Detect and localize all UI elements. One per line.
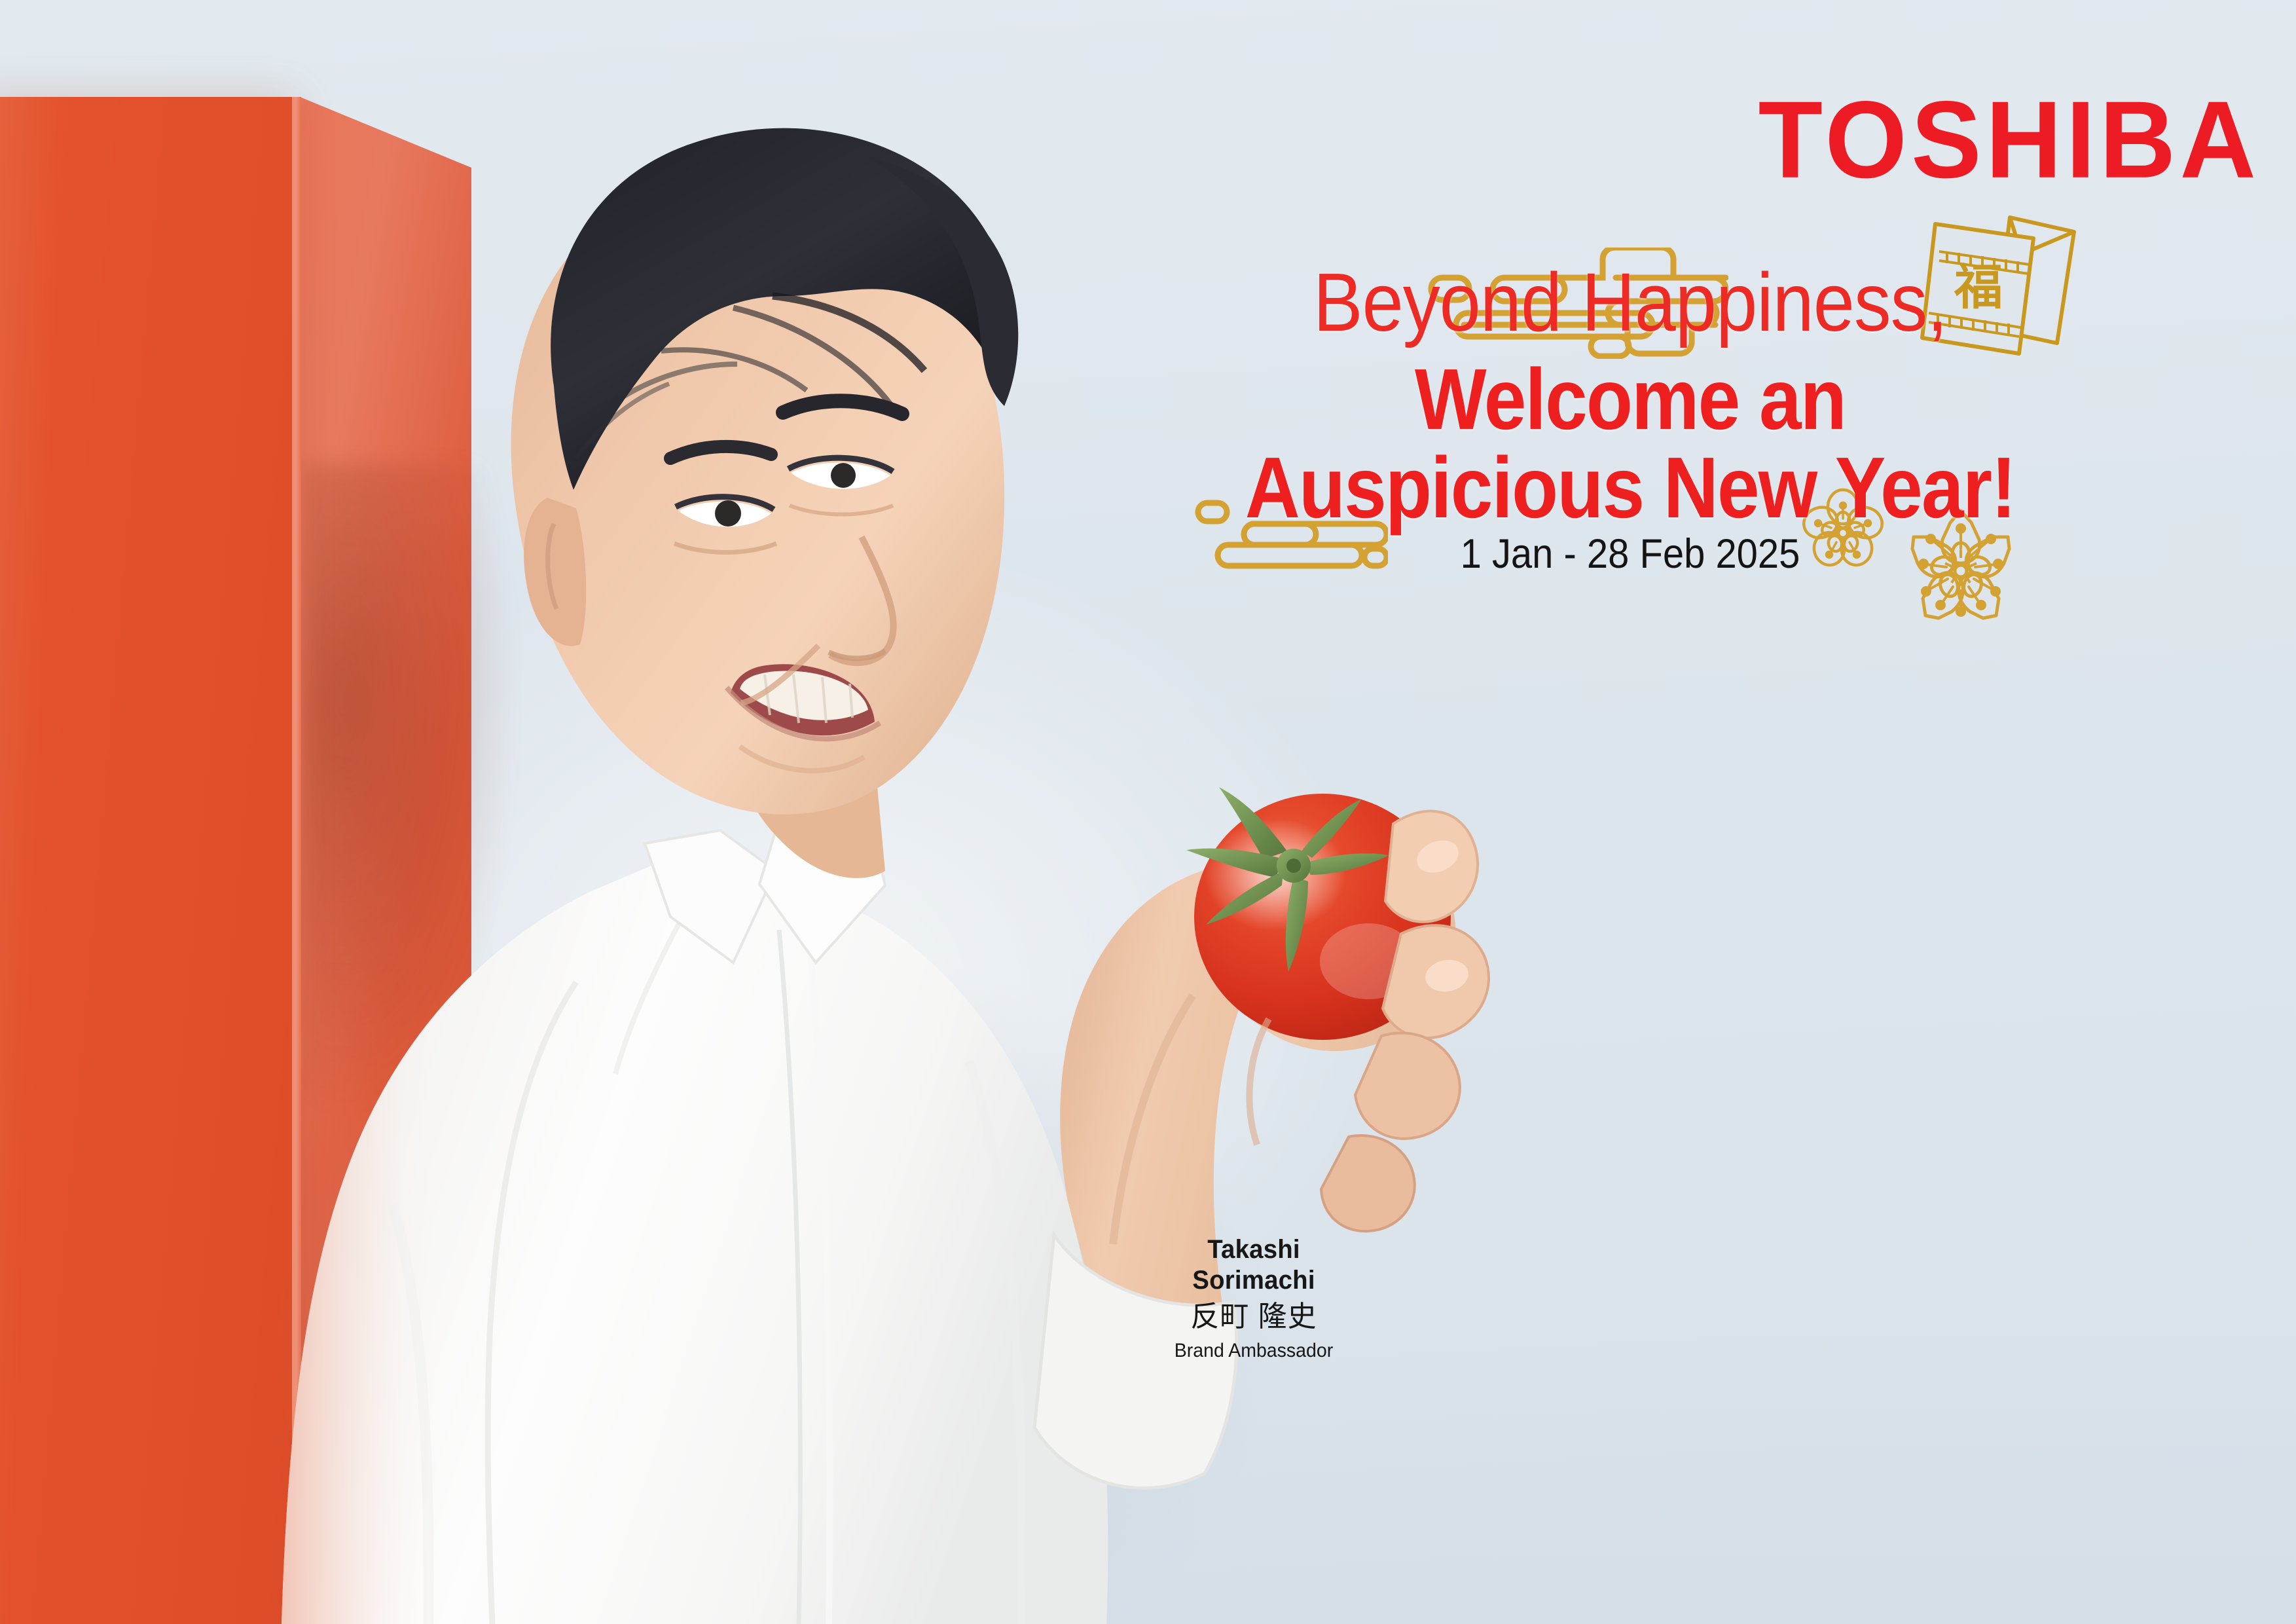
ring-finger [1321, 1135, 1415, 1231]
headline-line-3: Auspicious New Year! [1198, 443, 2062, 532]
eye-far-iris [831, 463, 856, 488]
ambassador-role: Brand Ambassador [1142, 1339, 1366, 1362]
ambassador-first-name: Takashi [1140, 1234, 1367, 1265]
ear [524, 498, 586, 646]
campaign-poster: TOSHIBA [0, 0, 2296, 1624]
headline-line-1: Beyond Happiness, [1188, 261, 2072, 345]
ambassador-surname: Sorimachi [1140, 1265, 1367, 1296]
promo-date-range: 1 Jan - 28 Feb 2025 [1178, 530, 2082, 578]
eye-near-iris [715, 500, 741, 526]
headline-block: Beyond Happiness, Welcome an Auspicious … [1139, 261, 2121, 532]
headline-line-2: Welcome an [1198, 354, 2062, 444]
ambassador-caption: Takashi Sorimachi 反町 隆史 Brand Ambassador [1136, 1234, 1372, 1363]
toshiba-logo: TOSHIBA [1758, 85, 2260, 194]
ambassador-name-japanese: 反町 隆史 [1136, 1300, 1372, 1334]
campaign-copy-panel: TOSHIBA [1139, 79, 2278, 786]
middle-finger [1355, 1033, 1460, 1138]
